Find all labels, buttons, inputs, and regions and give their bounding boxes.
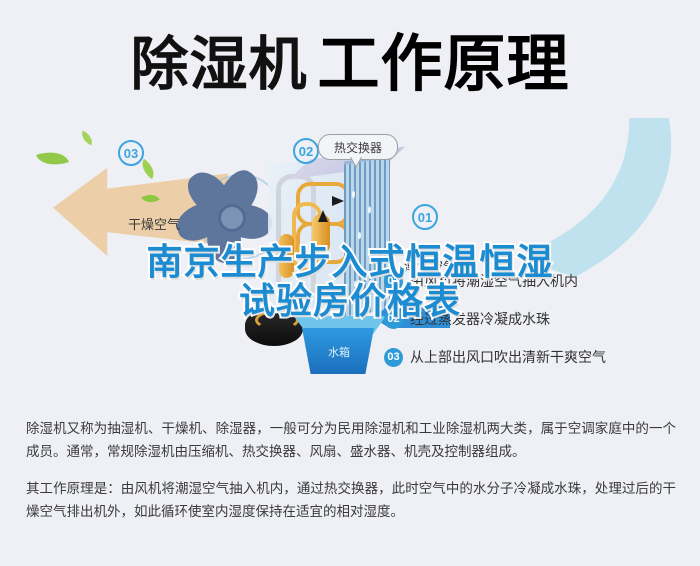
badge-03: 03 bbox=[118, 140, 144, 166]
water-droplet bbox=[352, 191, 355, 198]
body-copy: 除湿机又称为抽湿机、干燥机、除湿器，一般可分为民用除湿机和工业除湿机两大类，属于… bbox=[26, 418, 676, 538]
badge-02: 02 bbox=[293, 138, 319, 164]
water-droplet bbox=[374, 255, 377, 262]
step-number-03: 03 bbox=[384, 348, 403, 367]
step-text-03: 从上部出风口吹出清新干爽空气 bbox=[410, 347, 606, 367]
compressor-coil bbox=[255, 310, 299, 330]
water-droplet bbox=[354, 281, 357, 288]
step-number-02: 02 bbox=[384, 310, 403, 329]
receiver-cylinder bbox=[279, 234, 294, 278]
page-title: 除湿机 工作原理 bbox=[0, 18, 700, 110]
dry-air-label: 干燥空气 bbox=[128, 214, 180, 233]
step-number-01: 01 bbox=[384, 272, 403, 291]
step-item-03: 03 从上部出风口吹出清新干爽空气 bbox=[384, 346, 694, 368]
badge-01: 01 bbox=[412, 204, 438, 230]
page-root: 除湿机 工作原理 bbox=[0, 0, 700, 566]
step-item-01: 01 由风机将潮湿空气抽入机内 bbox=[384, 270, 694, 292]
dehumidifier-diagram: 水箱 03 02 01 干燥空气 潮湿空气 热交换器 01 由风机将潮湿空气抽入… bbox=[0, 118, 700, 406]
leaf-icon bbox=[79, 131, 96, 146]
water-droplet bbox=[358, 232, 361, 239]
page-title-part1: 除湿机 bbox=[130, 35, 307, 93]
water-droplet bbox=[368, 206, 371, 213]
step-list: 01 由风机将潮湿空气抽入机内 02 经过蒸发器冷凝成水珠 03 从上部出风口吹… bbox=[384, 270, 694, 384]
leaf-icon bbox=[36, 146, 69, 171]
step-text-01: 由风机将潮湿空气抽入机内 bbox=[410, 271, 578, 291]
body-paragraph-1: 除湿机又称为抽湿机、干燥机、除湿器，一般可分为民用除湿机和工业除湿机两大类，属于… bbox=[26, 418, 676, 464]
step-text-02: 经过蒸发器冷凝成水珠 bbox=[410, 309, 550, 329]
flow-arrow-right-icon bbox=[332, 196, 344, 206]
fan-hub bbox=[218, 204, 246, 232]
body-paragraph-2: 其工作原理是：由风机将潮湿空气抽入机内，通过热交换器，此时空气中的水分子冷凝成水… bbox=[26, 478, 676, 524]
step-item-02: 02 经过蒸发器冷凝成水珠 bbox=[384, 308, 694, 330]
page-title-part2: 工作原理 bbox=[318, 33, 570, 95]
water-tank-graphic: 水箱 bbox=[294, 314, 386, 376]
flow-arrow-up-icon bbox=[318, 210, 328, 222]
water-tank-label: 水箱 bbox=[328, 344, 350, 360]
callout-tail bbox=[350, 157, 362, 168]
